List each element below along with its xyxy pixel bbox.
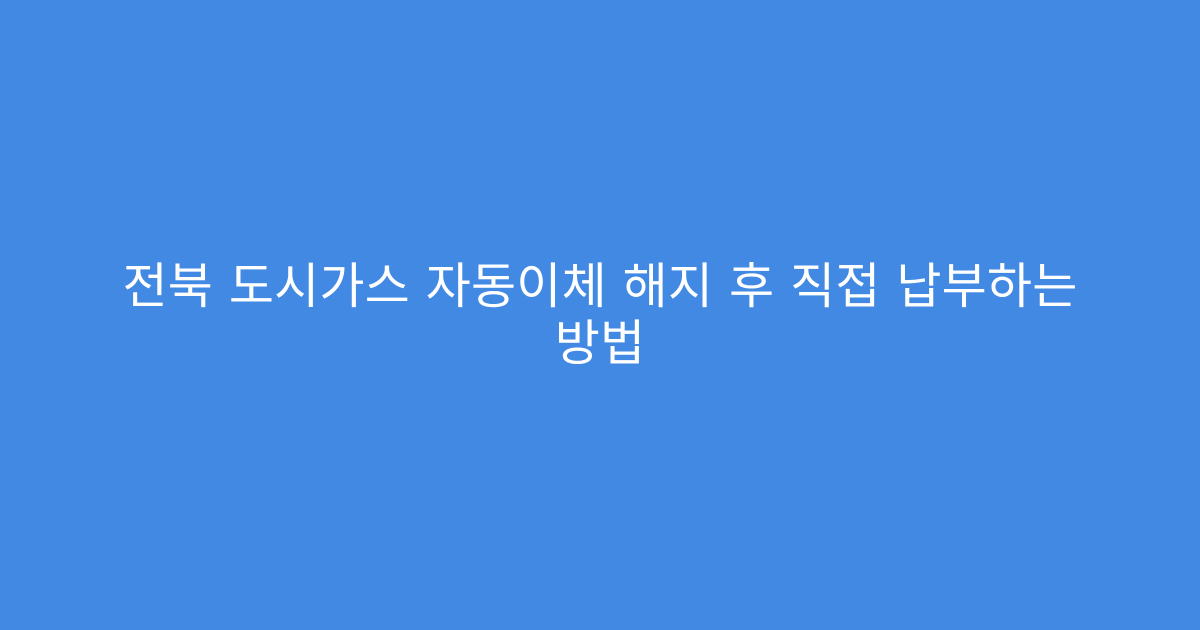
og-card: 전북 도시가스 자동이체 해지 후 직접 납부하는 방법	[0, 0, 1200, 630]
title-block: 전북 도시가스 자동이체 해지 후 직접 납부하는 방법	[95, 258, 1105, 372]
page-title: 전북 도시가스 자동이체 해지 후 직접 납부하는 방법	[105, 258, 1095, 372]
